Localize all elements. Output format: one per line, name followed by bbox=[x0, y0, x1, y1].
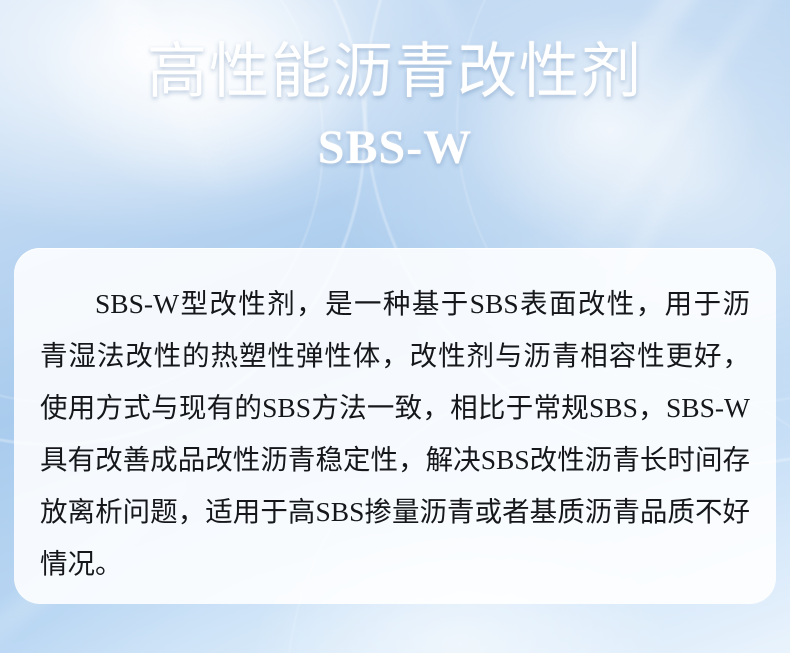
description-card: SBS-W型改性剂，是一种基于SBS表面改性，用于沥青湿法改性的热塑性弹性体，改… bbox=[14, 248, 776, 604]
description-text: SBS-W型改性剂，是一种基于SBS表面改性，用于沥青湿法改性的热塑性弹性体，改… bbox=[14, 248, 776, 590]
poster-header: 高性能沥青改性剂 SBS-W bbox=[0, 42, 790, 172]
page-title: 高性能沥青改性剂 bbox=[0, 42, 790, 102]
product-code: SBS-W bbox=[0, 124, 790, 172]
poster-root: 高性能沥青改性剂 SBS-W SBS-W型改性剂，是一种基于SBS表面改性，用于… bbox=[0, 0, 790, 653]
